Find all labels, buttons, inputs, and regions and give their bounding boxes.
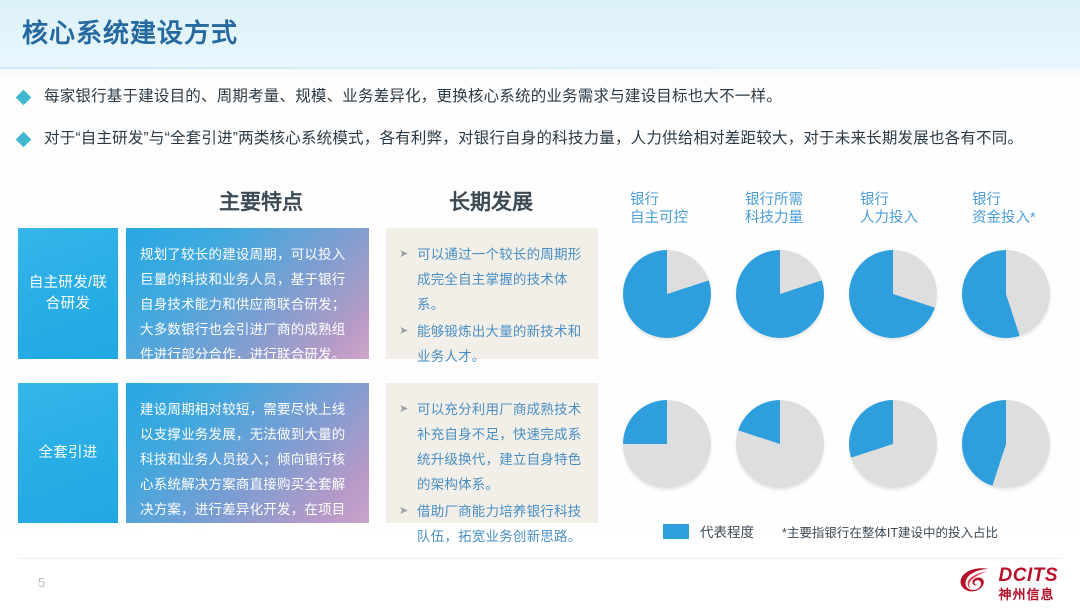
row-label-self-development: 自主研发/联合研发 xyxy=(18,228,118,359)
pie-chart-r0-c3 xyxy=(962,250,1050,338)
footer-divider xyxy=(18,558,1062,559)
brand-logo: DCITS 神州信息 xyxy=(958,566,1059,601)
pie-chart-r0-c0 xyxy=(623,250,711,338)
arrow-bullet-icon: ➤ xyxy=(396,397,417,422)
development-list-item: ➤ 可以充分利用厂商成熟技术补充自身不足，快速完成系统升级换代，建立自身特色的架… xyxy=(396,397,586,497)
pie-heading-line1: 银行 xyxy=(972,191,1036,209)
pie-chart-r1-c1 xyxy=(736,400,824,488)
diamond-bullet-icon xyxy=(16,132,32,148)
pie-chart-r1-c2 xyxy=(849,400,937,488)
legend-color-swatch xyxy=(663,524,689,539)
bullet-text: 对于“自主研发”与“全套引进”两类核心系统模式，各有利弊，对银行自身的科技力量，… xyxy=(44,129,1023,149)
logo-subtitle: 神州信息 xyxy=(999,588,1059,601)
logo-name: DCITS xyxy=(999,566,1059,585)
page-title: 核心系统建设方式 xyxy=(22,13,238,50)
pie-column-heading-2: 银行 人力投入 xyxy=(860,191,918,227)
pie-chart-r0-c1 xyxy=(736,250,824,338)
page-number: 5 xyxy=(38,575,45,590)
row-feature-self-development: 规划了较长的建设周期，可以投入巨量的科技和业务人员，基于银行自身技术能力和供应商… xyxy=(126,228,369,359)
bullet-text: 每家银行基于建设目的、周期考量、规模、业务差异化，更换核心系统的业务需求与建设目… xyxy=(44,87,782,107)
chart-legend: 代表程度 *主要指银行在整体IT建设中的投入占比 xyxy=(663,521,998,541)
pie-heading-line1: 银行所需 xyxy=(745,191,803,209)
bullet-item: 每家银行基于建设目的、周期考量、规模、业务差异化，更换核心系统的业务需求与建设目… xyxy=(18,87,782,107)
pie-column-heading-0: 银行 自主可控 xyxy=(630,191,688,227)
pie-heading-line2: 人力投入 xyxy=(860,209,918,227)
column-heading-main-features: 主要特点 xyxy=(219,186,303,216)
arrow-bullet-icon: ➤ xyxy=(396,499,417,524)
pie-heading-line1: 银行 xyxy=(630,191,688,209)
pie-chart-r0-c2 xyxy=(849,250,937,338)
pie-heading-line2: 科技力量 xyxy=(745,209,803,227)
development-list-item: ➤ 借助厂商能力培养银行科技队伍，拓宽业务创新思路。 xyxy=(396,499,586,549)
column-heading-long-term: 长期发展 xyxy=(449,186,533,216)
row-label-full-procurement: 全套引进 xyxy=(18,383,118,523)
development-list-item: ➤ 能够锻炼出大量的新技术和业务人才。 xyxy=(396,319,586,369)
pie-column-heading-1: 银行所需 科技力量 xyxy=(745,191,803,227)
slide-canvas: 核心系统建设方式 每家银行基于建设目的、周期考量、规模、业务差异化，更换核心系统… xyxy=(0,0,1080,608)
bullet-item: 对于“自主研发”与“全套引进”两类核心系统模式，各有利弊，对银行自身的科技力量，… xyxy=(18,129,1023,149)
legend-footnote: *主要指银行在整体IT建设中的投入占比 xyxy=(782,522,998,541)
arrow-bullet-icon: ➤ xyxy=(396,319,417,344)
development-text: 能够锻炼出大量的新技术和业务人才。 xyxy=(417,319,586,369)
pie-heading-line1: 银行 xyxy=(860,191,918,209)
pie-chart-r1-c0 xyxy=(623,400,711,488)
pie-column-heading-3: 银行 资金投入* xyxy=(972,191,1036,227)
development-text: 借助厂商能力培养银行科技队伍，拓宽业务创新思路。 xyxy=(417,499,586,549)
diamond-bullet-icon xyxy=(16,90,32,106)
development-text: 可以充分利用厂商成熟技术补充自身不足，快速完成系统升级换代，建立自身特色的架构体… xyxy=(417,397,586,497)
swirl-logo-icon xyxy=(958,566,992,601)
legend-label: 代表程度 xyxy=(700,521,754,541)
header-divider xyxy=(0,67,1080,69)
pie-chart-r1-c3 xyxy=(962,400,1050,488)
row-feature-full-procurement: 建设周期相对较短，需要尽快上线以支撑业务发展，无法做到大量的科技和业务人员投入；… xyxy=(126,383,369,523)
pie-heading-line2: 资金投入* xyxy=(972,209,1036,227)
logo-wordmark: DCITS 神州信息 xyxy=(999,566,1059,601)
pie-heading-line2: 自主可控 xyxy=(630,209,688,227)
development-list-item: ➤ 可以通过一个较长的周期形成完全自主掌握的技术体系。 xyxy=(396,242,586,317)
development-text: 可以通过一个较长的周期形成完全自主掌握的技术体系。 xyxy=(417,242,586,317)
row-development-self-development: ➤ 可以通过一个较长的周期形成完全自主掌握的技术体系。 ➤ 能够锻炼出大量的新技… xyxy=(386,228,598,359)
row-development-full-procurement: ➤ 可以充分利用厂商成熟技术补充自身不足，快速完成系统升级换代，建立自身特色的架… xyxy=(386,383,598,523)
arrow-bullet-icon: ➤ xyxy=(396,242,417,267)
